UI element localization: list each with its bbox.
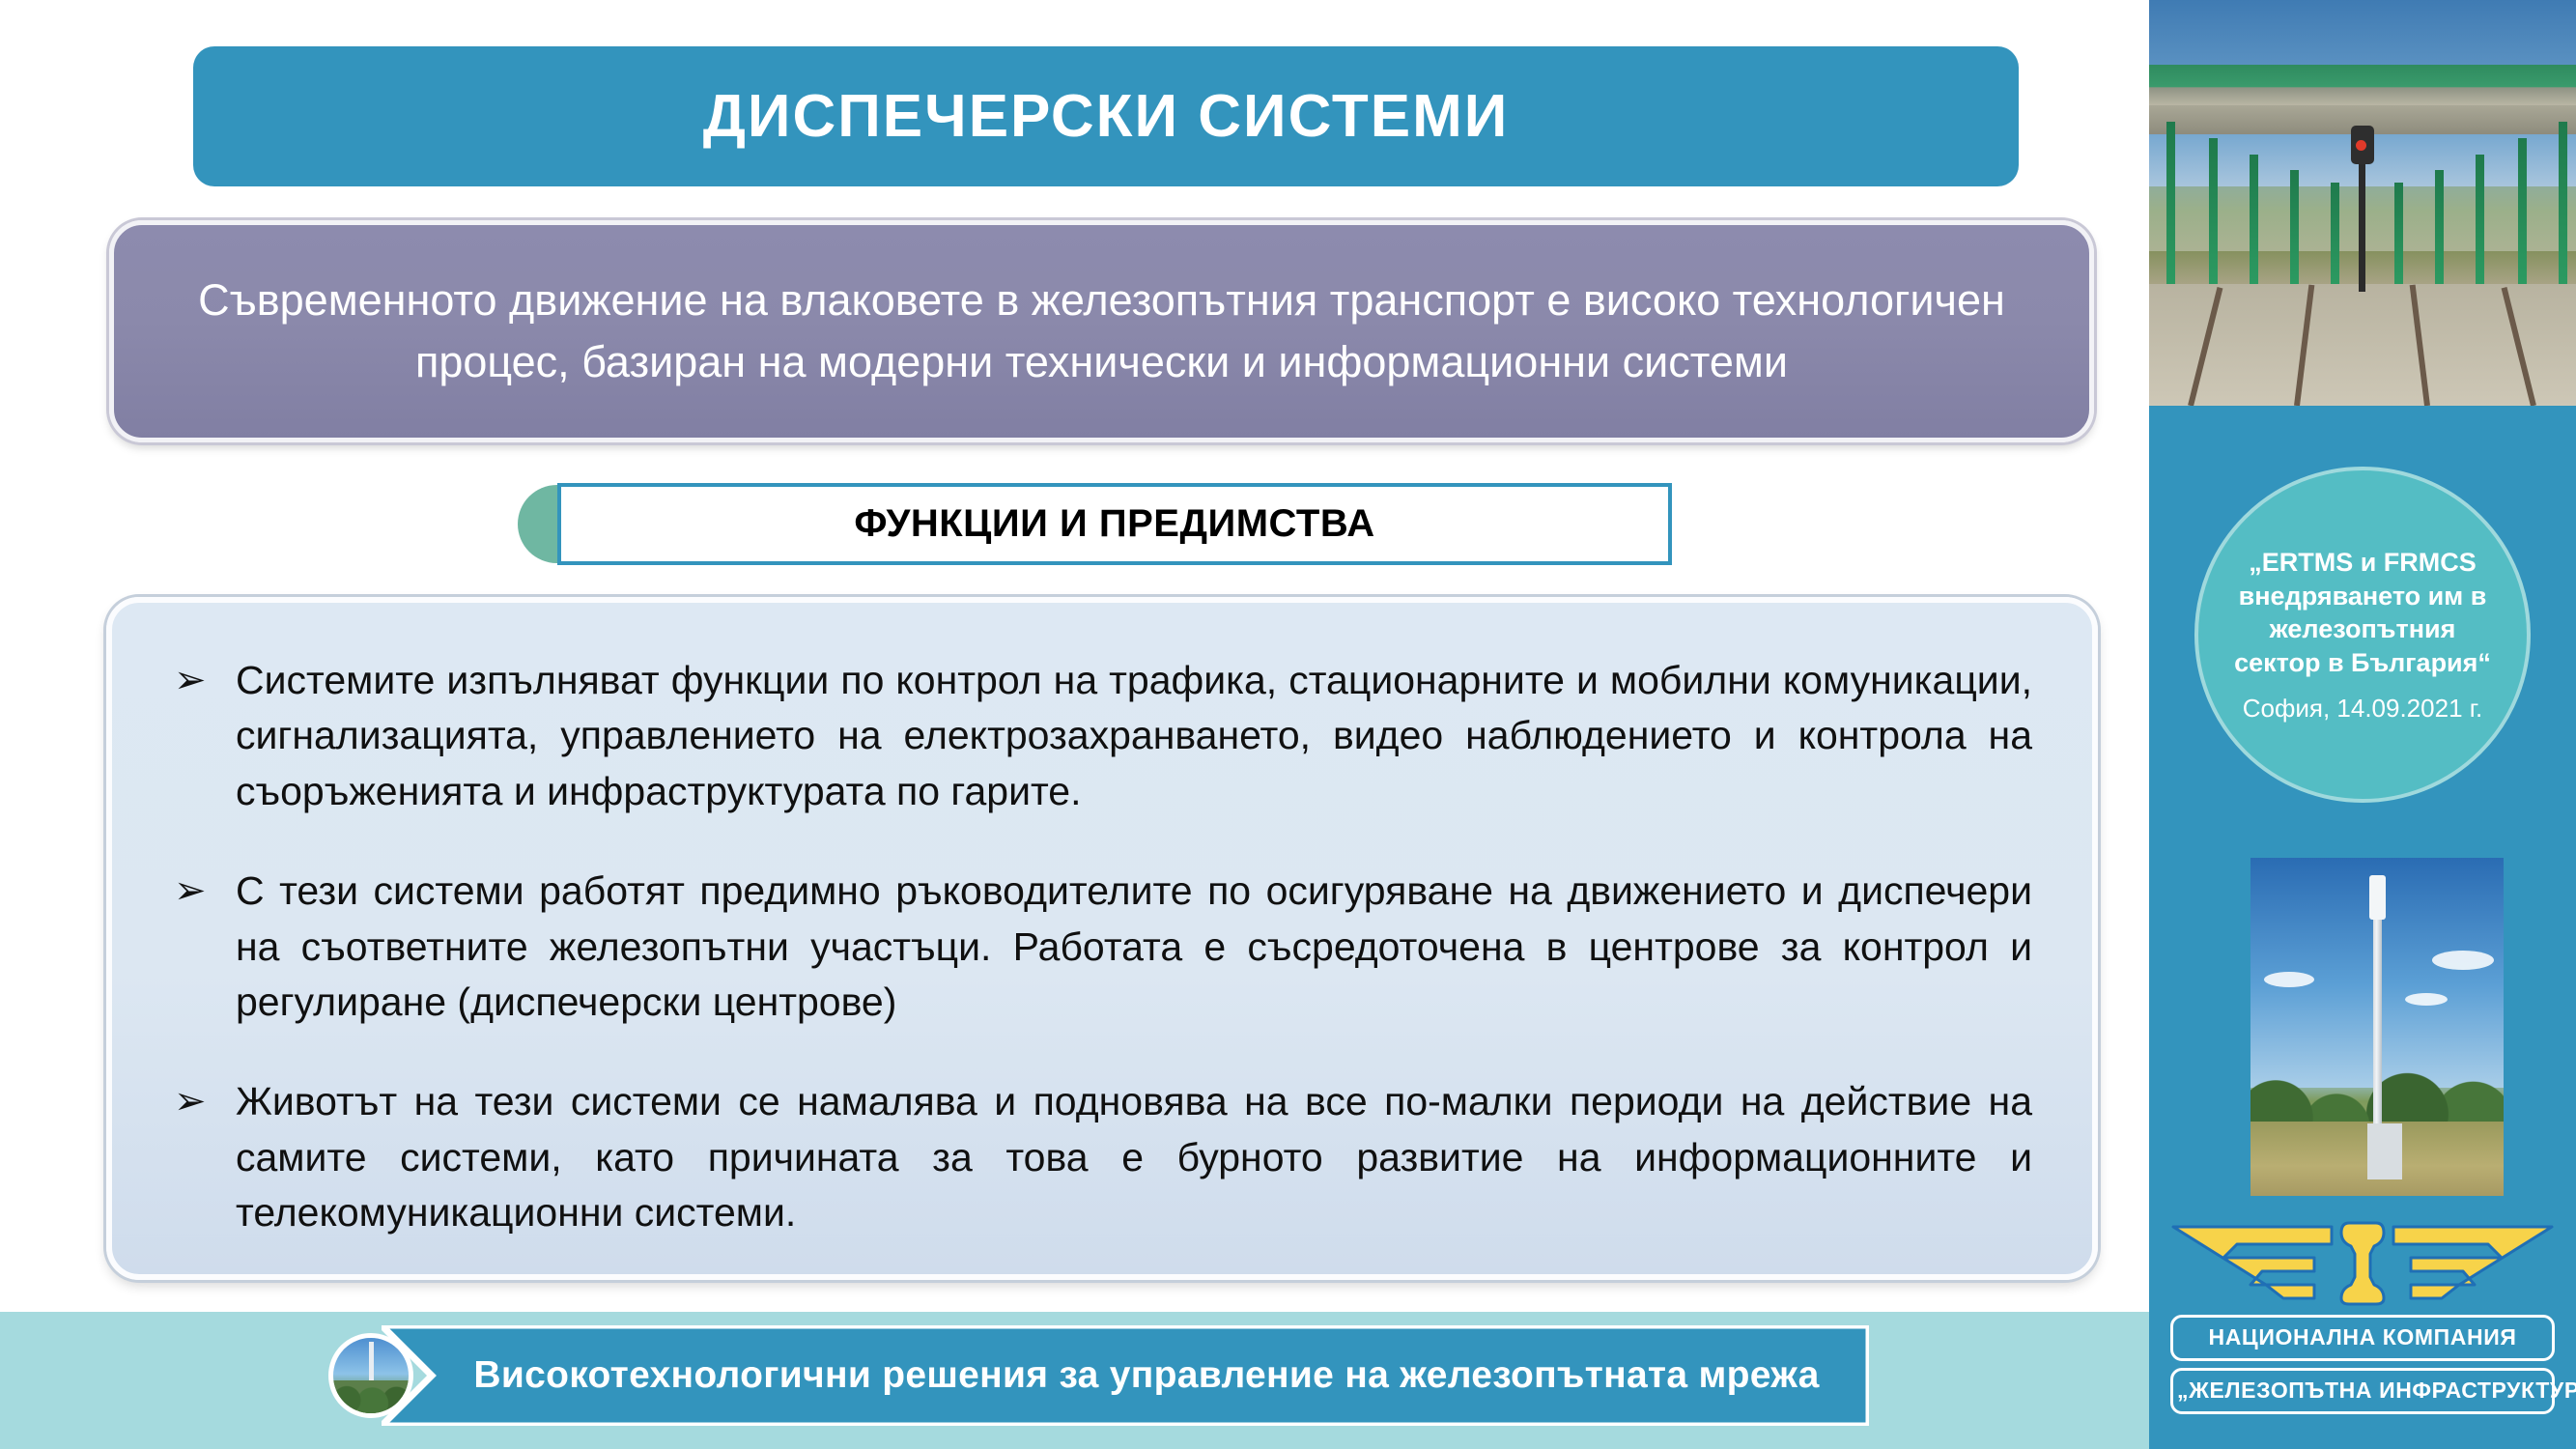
arrowhead-bullet-icon: ➢ xyxy=(153,864,236,918)
company-name-line1: НАЦИОНАЛНА КОМПАНИЯ xyxy=(2170,1315,2555,1361)
slide-title-banner: ДИСПЕЧЕРСКИ СИСТЕМИ xyxy=(193,46,2019,186)
catenary-mast-icon xyxy=(2476,155,2484,284)
footer-banner: Високотехнологични решения за управление… xyxy=(382,1325,1869,1426)
cloud-decoration xyxy=(2264,972,2314,987)
cloud-decoration xyxy=(2432,951,2494,970)
gsmr-telecom-mast-photo xyxy=(2250,858,2504,1196)
list-item: ➢ С тези системи работят предимно ръково… xyxy=(153,864,2032,1030)
right-sidebar: „ERTMS и FRMCS внедряването им в железоп… xyxy=(2149,0,2576,1449)
statement-box: Съвременното движение на влаковете в жел… xyxy=(109,220,2094,442)
cloud-decoration xyxy=(2405,993,2448,1006)
catenary-mast-icon xyxy=(2435,170,2444,284)
section-tab: ФУНКЦИИ И ПРЕДИМСТВА xyxy=(518,483,1672,565)
event-badge: „ERTMS и FRMCS внедряването им в железоп… xyxy=(2194,467,2531,803)
catenary-mast-icon xyxy=(2394,183,2403,284)
catenary-mast-icon xyxy=(2559,122,2567,284)
catenary-mast-icon xyxy=(2250,155,2258,284)
catenary-mast-icon xyxy=(2209,138,2218,284)
bullets-panel: ➢ Системите изпълняват функции по контро… xyxy=(106,597,2098,1280)
list-item: ➢ Животът на тези системи се намалява и … xyxy=(153,1074,2032,1240)
presentation-slide: ДИСПЕЧЕРСКИ СИСТЕМИ Съвременното движени… xyxy=(0,0,2576,1449)
antenna-icon xyxy=(2369,875,2386,920)
page-title: ДИСПЕЧЕРСКИ СИСТЕМИ xyxy=(703,87,1510,147)
catenary-mast-icon xyxy=(2518,138,2527,284)
railway-tracks-photo xyxy=(2149,0,2576,406)
catenary-mast-icon xyxy=(2290,170,2299,284)
event-badge-date: София, 14.09.2021 г. xyxy=(2243,694,2483,724)
tab-box: ФУНКЦИИ И ПРЕДИМСТВА xyxy=(557,483,1672,565)
bullet-text: С тези системи работят предимно ръководи… xyxy=(236,864,2032,1030)
list-item: ➢ Системите изпълняват функции по контро… xyxy=(153,653,2032,819)
slide-main-area: ДИСПЕЧЕРСКИ СИСТЕМИ Съвременното движени… xyxy=(0,0,2149,1449)
winged-rail-emblem-icon xyxy=(2169,1215,2556,1308)
catenary-mast-icon xyxy=(2166,122,2175,284)
event-badge-title: „ERTMS и FRMCS внедряването им в железоп… xyxy=(2225,546,2500,679)
equipment-cabinet-icon xyxy=(2367,1123,2402,1179)
bullet-text: Животът на тези системи се намалява и по… xyxy=(236,1074,2032,1240)
company-logo-block: НАЦИОНАЛНА КОМПАНИЯ „ЖЕЛЕЗОПЪТНА ИНФРАСТ… xyxy=(2149,1215,2576,1449)
footer-banner-label: Високотехнологични решения за управление… xyxy=(382,1325,1869,1426)
company-name-line2: „ЖЕЛЕЗОПЪТНА ИНФРАСТРУКТУРА“ xyxy=(2170,1368,2555,1414)
arrowhead-bullet-icon: ➢ xyxy=(153,1074,236,1128)
section-tab-label: ФУНКЦИИ И ПРЕДИМСТВА xyxy=(854,502,1374,546)
catenary-mast-icon xyxy=(2331,183,2339,284)
green-bridge-decoration xyxy=(2149,65,2576,105)
statement-text: Съвременното движение на влаковете в жел… xyxy=(182,270,2022,393)
bullet-text: Системите изпълняват функции по контрол … xyxy=(236,653,2032,819)
arrowhead-bullet-icon: ➢ xyxy=(153,653,236,707)
